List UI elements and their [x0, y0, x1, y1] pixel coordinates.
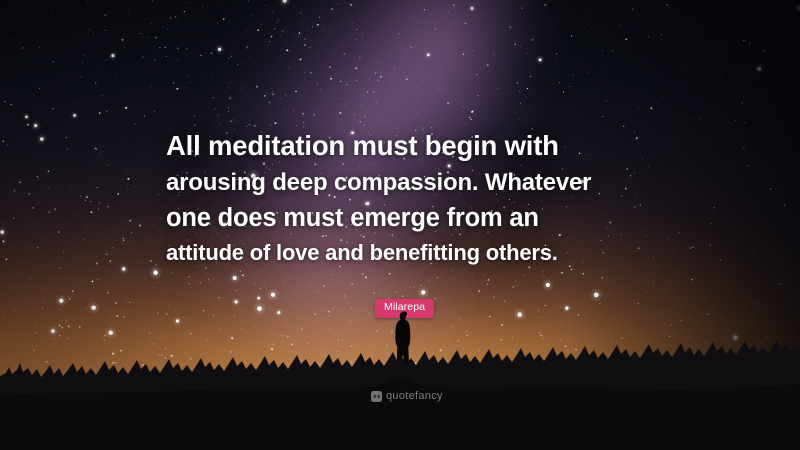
watermark-brand: quotefancy: [386, 391, 443, 402]
quote-line-4: attitude of love and benefitting others.: [166, 242, 646, 264]
author-badge[interactable]: Milarepa: [375, 299, 434, 318]
quote-text: All meditation must begin with arousing …: [166, 132, 646, 264]
quote-line-2: arousing deep compassion. Whatever: [166, 171, 646, 195]
watermark: quotefancy: [371, 391, 443, 402]
quote-poster: All meditation must begin with arousing …: [0, 0, 800, 450]
quote-mark-logo-icon: [371, 391, 382, 402]
quote-line-1: All meditation must begin with: [166, 132, 646, 160]
quote-line-3: one does must emerge from an: [166, 206, 646, 232]
